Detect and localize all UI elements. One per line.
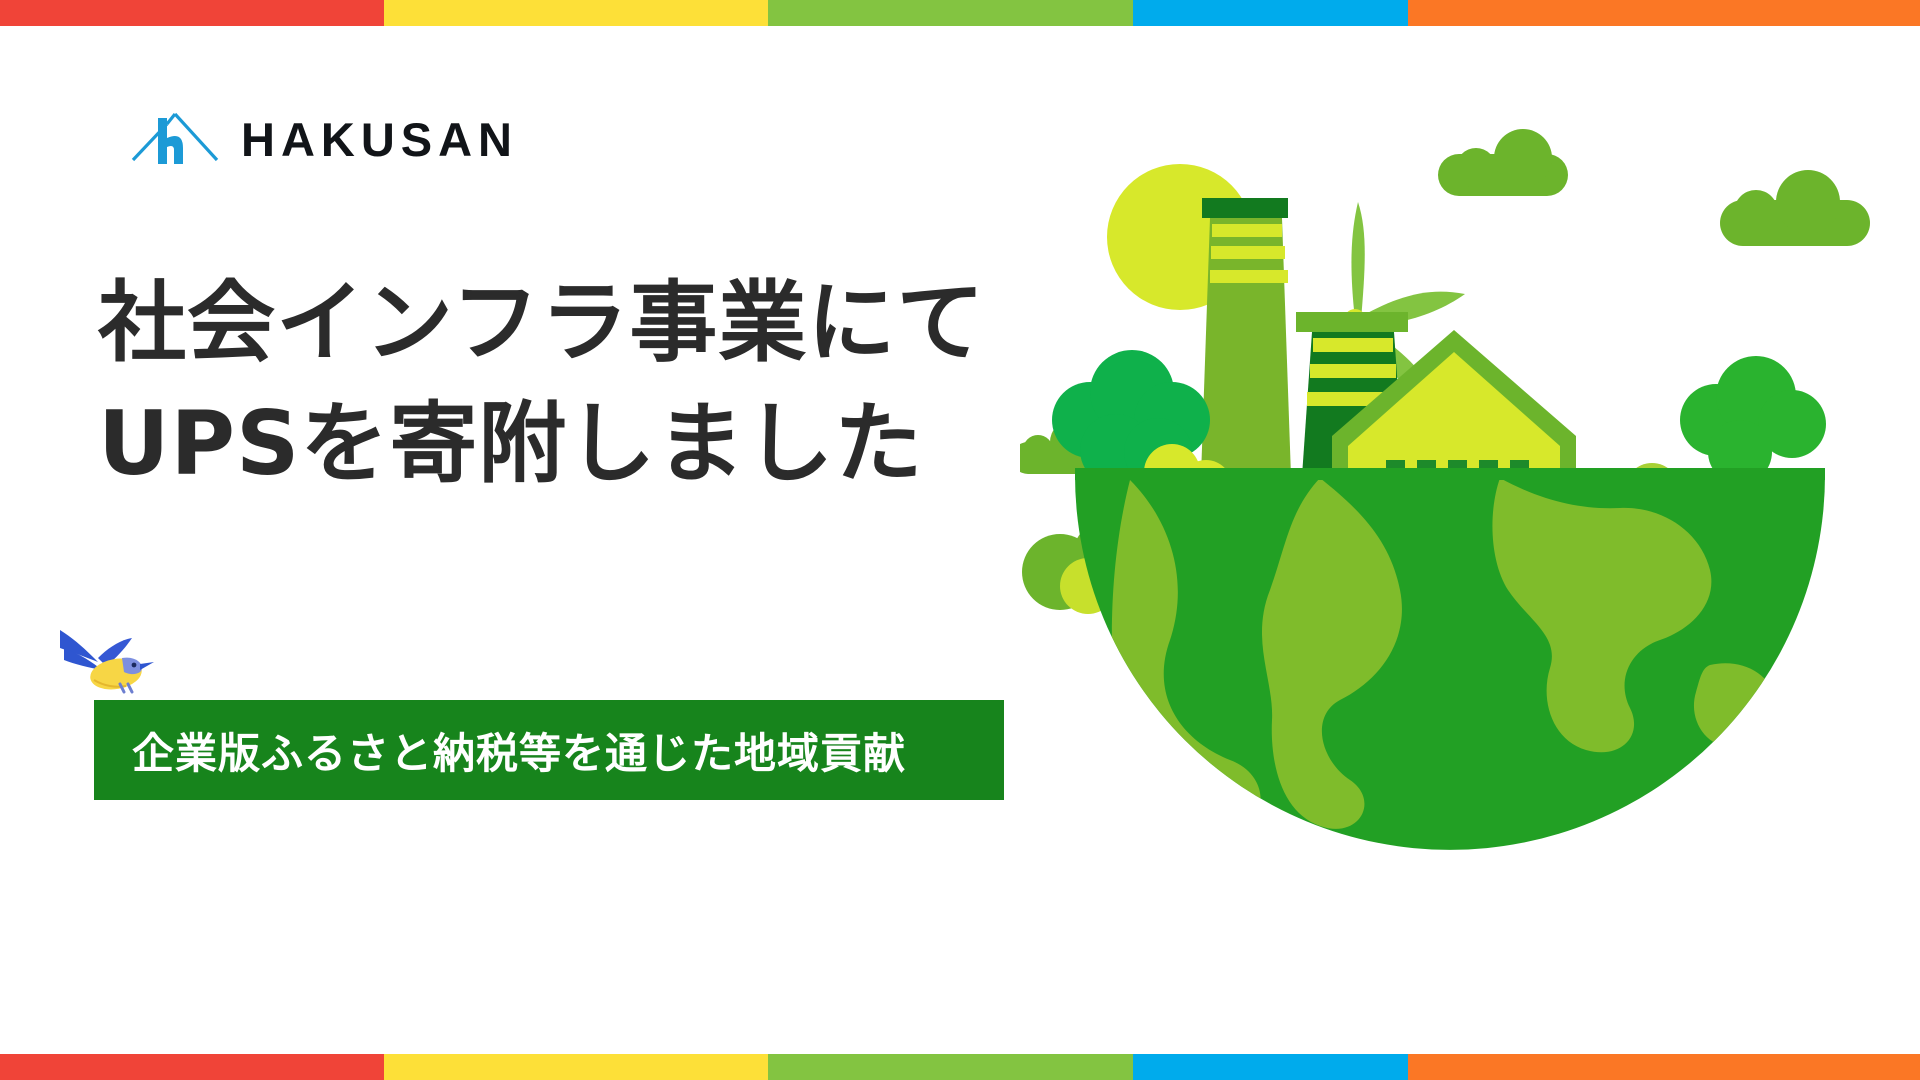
stripe-blue-bottom [1133, 1054, 1408, 1080]
banner-label: 企業版ふるさと納税等を通じた地域貢献 [94, 720, 906, 781]
stripe-yellow-bottom [384, 1054, 768, 1080]
status-badge: 企業版ふるさと納税等を通じた地域貢献 [94, 700, 1004, 800]
top-color-stripe-bar [0, 0, 1920, 26]
stripe-yellow [384, 0, 768, 26]
hakusan-wordmark: HAKUSAN [241, 116, 518, 163]
stripe-green-bottom [768, 1054, 1133, 1080]
page-title: 社会インフラ事業にて UPSを寄附しました [98, 262, 1098, 505]
stripe-orange-bottom [1408, 1054, 1920, 1080]
stripe-orange [1408, 0, 1920, 26]
hakusan-logo[interactable]: HAKUSAN [131, 110, 518, 168]
cloud-icon-right [1720, 170, 1870, 246]
globe-icon [1075, 475, 1825, 850]
stripe-red-bottom [0, 1054, 384, 1080]
eco-earth-illustration [1020, 120, 1880, 950]
headline-line-2: UPSを寄附しました [98, 383, 1098, 504]
stripe-green [768, 0, 1133, 26]
hakusan-h-roof-icon [131, 110, 219, 168]
bottom-color-stripe-bar [0, 1054, 1920, 1080]
cloud-icon-top-right [1438, 129, 1568, 196]
stripe-red [0, 0, 384, 26]
blue-yellow-bird-icon [58, 618, 174, 694]
headline-line-1: 社会インフラ事業にて [98, 262, 1098, 383]
stripe-blue [1133, 0, 1408, 26]
slide-canvas: HAKUSAN 社会インフラ事業にて UPSを寄附しました 企業版ふるさと納税等… [0, 0, 1920, 1080]
